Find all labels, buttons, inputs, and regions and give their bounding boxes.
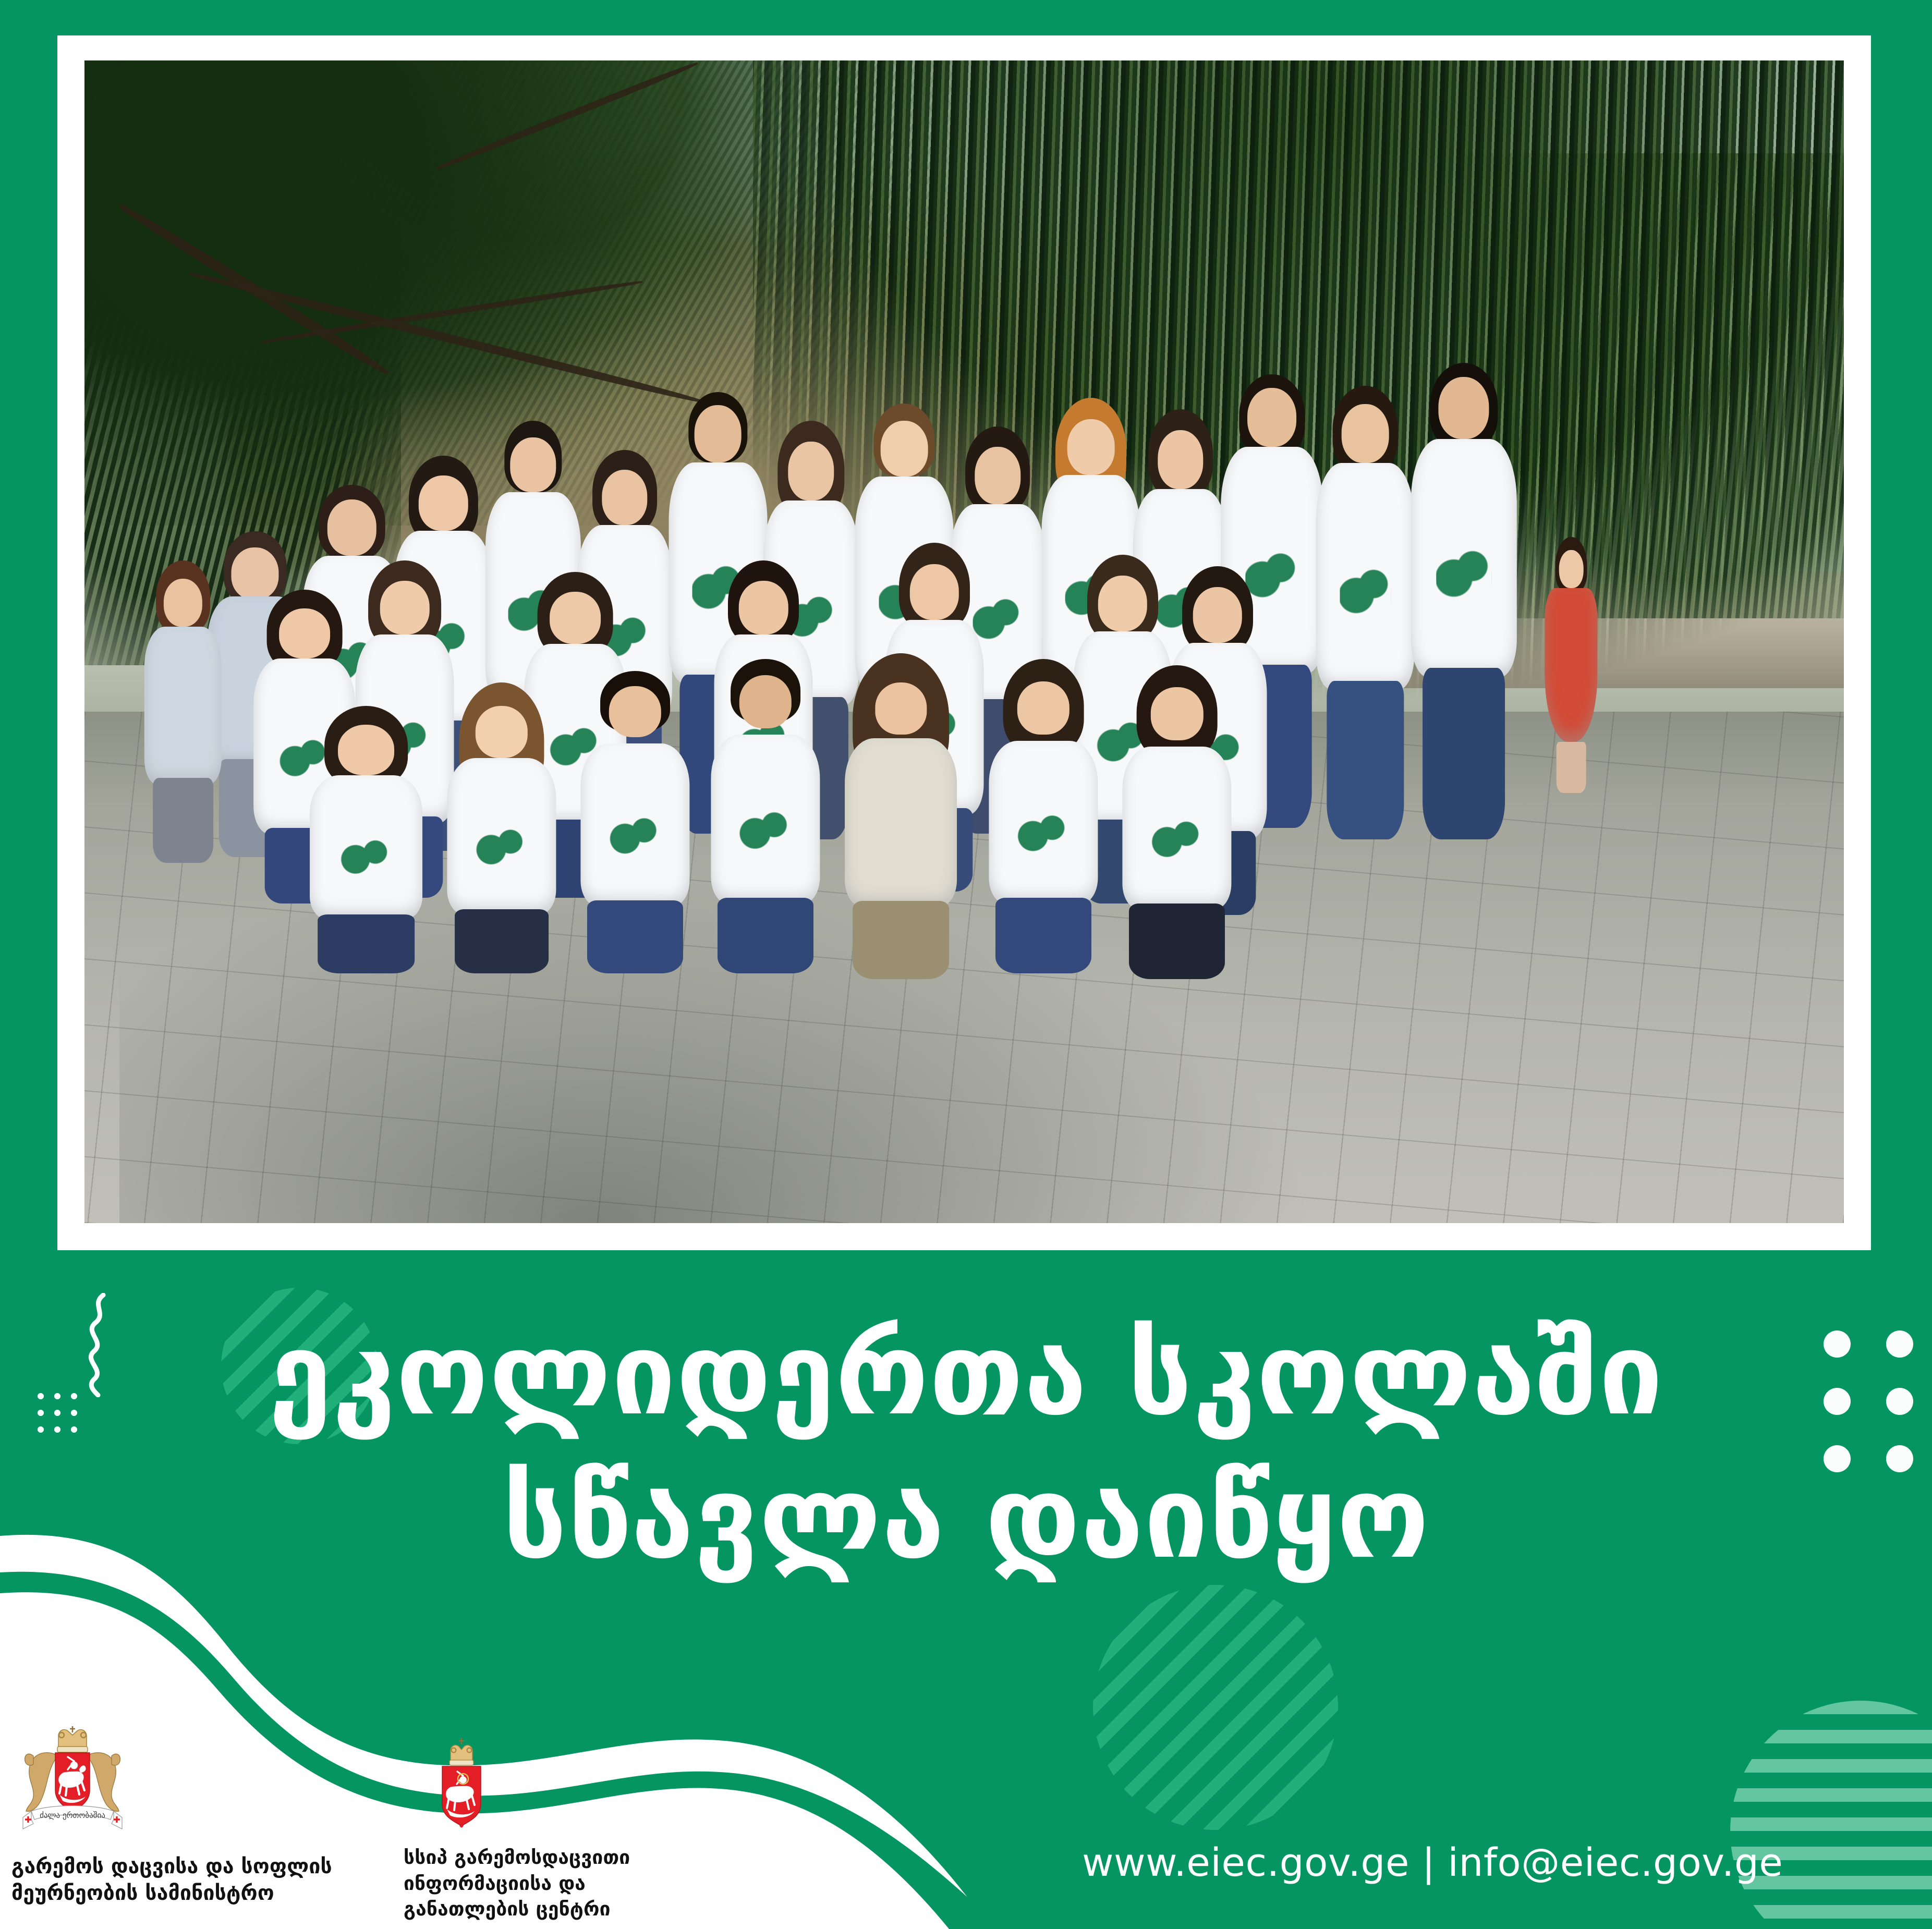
logo-eiec-text: სსიპ გარემოსდაცვითი ინფორმაციისა და განა… xyxy=(402,1845,735,1922)
photo-tshirt-logo xyxy=(1149,802,1206,871)
logo-ministry: ძალა ერთობაშია გარემოს დაცვისა და სოფლის… xyxy=(11,1720,408,1907)
photo-tshirt-logo xyxy=(473,811,530,877)
logo-eiec-line-2: ინფორმაციისა და xyxy=(404,1871,735,1897)
photo-tshirt-logo xyxy=(337,824,395,885)
photo-person xyxy=(1316,386,1415,839)
photo-person xyxy=(989,659,1098,973)
photo-tshirt-logo xyxy=(737,792,794,863)
poster-title: ეკოლიდერთა სკოლაში სწავლა დაიწყო xyxy=(0,1303,1932,1590)
photo-person xyxy=(447,682,556,973)
contact-info[interactable]: www.eiec.gov.ge | info@eiec.gov.ge xyxy=(1082,1840,1783,1885)
photo-tshirt-logo xyxy=(1015,796,1072,864)
photo-tshirt-logo xyxy=(607,799,664,867)
logo-eiec-line-1: სსიპ გარემოსდაცვითი xyxy=(404,1845,735,1871)
photo-bystander xyxy=(144,560,222,863)
photo-student-group xyxy=(84,60,1844,1223)
photo-tshirt-logo xyxy=(1340,540,1391,636)
photo-person xyxy=(580,671,689,973)
photo-person xyxy=(845,653,957,979)
logo-ministry-text: გარემოს დაცვისა და სოფლის მეურნეობის სამ… xyxy=(11,1854,408,1907)
photo-person xyxy=(1411,363,1516,839)
photo-child-bystander xyxy=(1545,537,1597,793)
photo-person xyxy=(1123,665,1232,979)
photo-person xyxy=(310,706,422,973)
lesser-coat-of-arms-icon xyxy=(402,1732,735,1831)
photo-person xyxy=(711,659,820,973)
poster-canvas: ეკოლიდერთა სკოლაში სწავლა დაიწყო xyxy=(0,0,1932,1929)
title-line-2: სწავლა დაიწყო xyxy=(115,1447,1817,1590)
photo-white-frame xyxy=(57,35,1871,1250)
svg-text:ძალა ერთობაშია: ძალა ერთობაშია xyxy=(40,1811,105,1820)
coat-of-arms-icon: ძალა ერთობაშია xyxy=(11,1720,408,1840)
striped-circle-horizontal xyxy=(1730,1701,1932,1929)
title-line-1: ეკოლიდერთა სკოლაში xyxy=(269,1309,1663,1440)
logo-eiec: სსიპ გარემოსდაცვითი ინფორმაციისა და განა… xyxy=(402,1732,735,1922)
group-photo xyxy=(84,60,1844,1223)
photo-tshirt-logo xyxy=(1437,520,1491,620)
logo-ministry-line-1: გარემოს დაცვისა და სოფლის xyxy=(11,1854,408,1881)
logo-eiec-line-3: განათლების ცენტრი xyxy=(404,1896,735,1922)
logo-ministry-line-2: მეურნეობის სამინისტრო xyxy=(11,1881,408,1907)
